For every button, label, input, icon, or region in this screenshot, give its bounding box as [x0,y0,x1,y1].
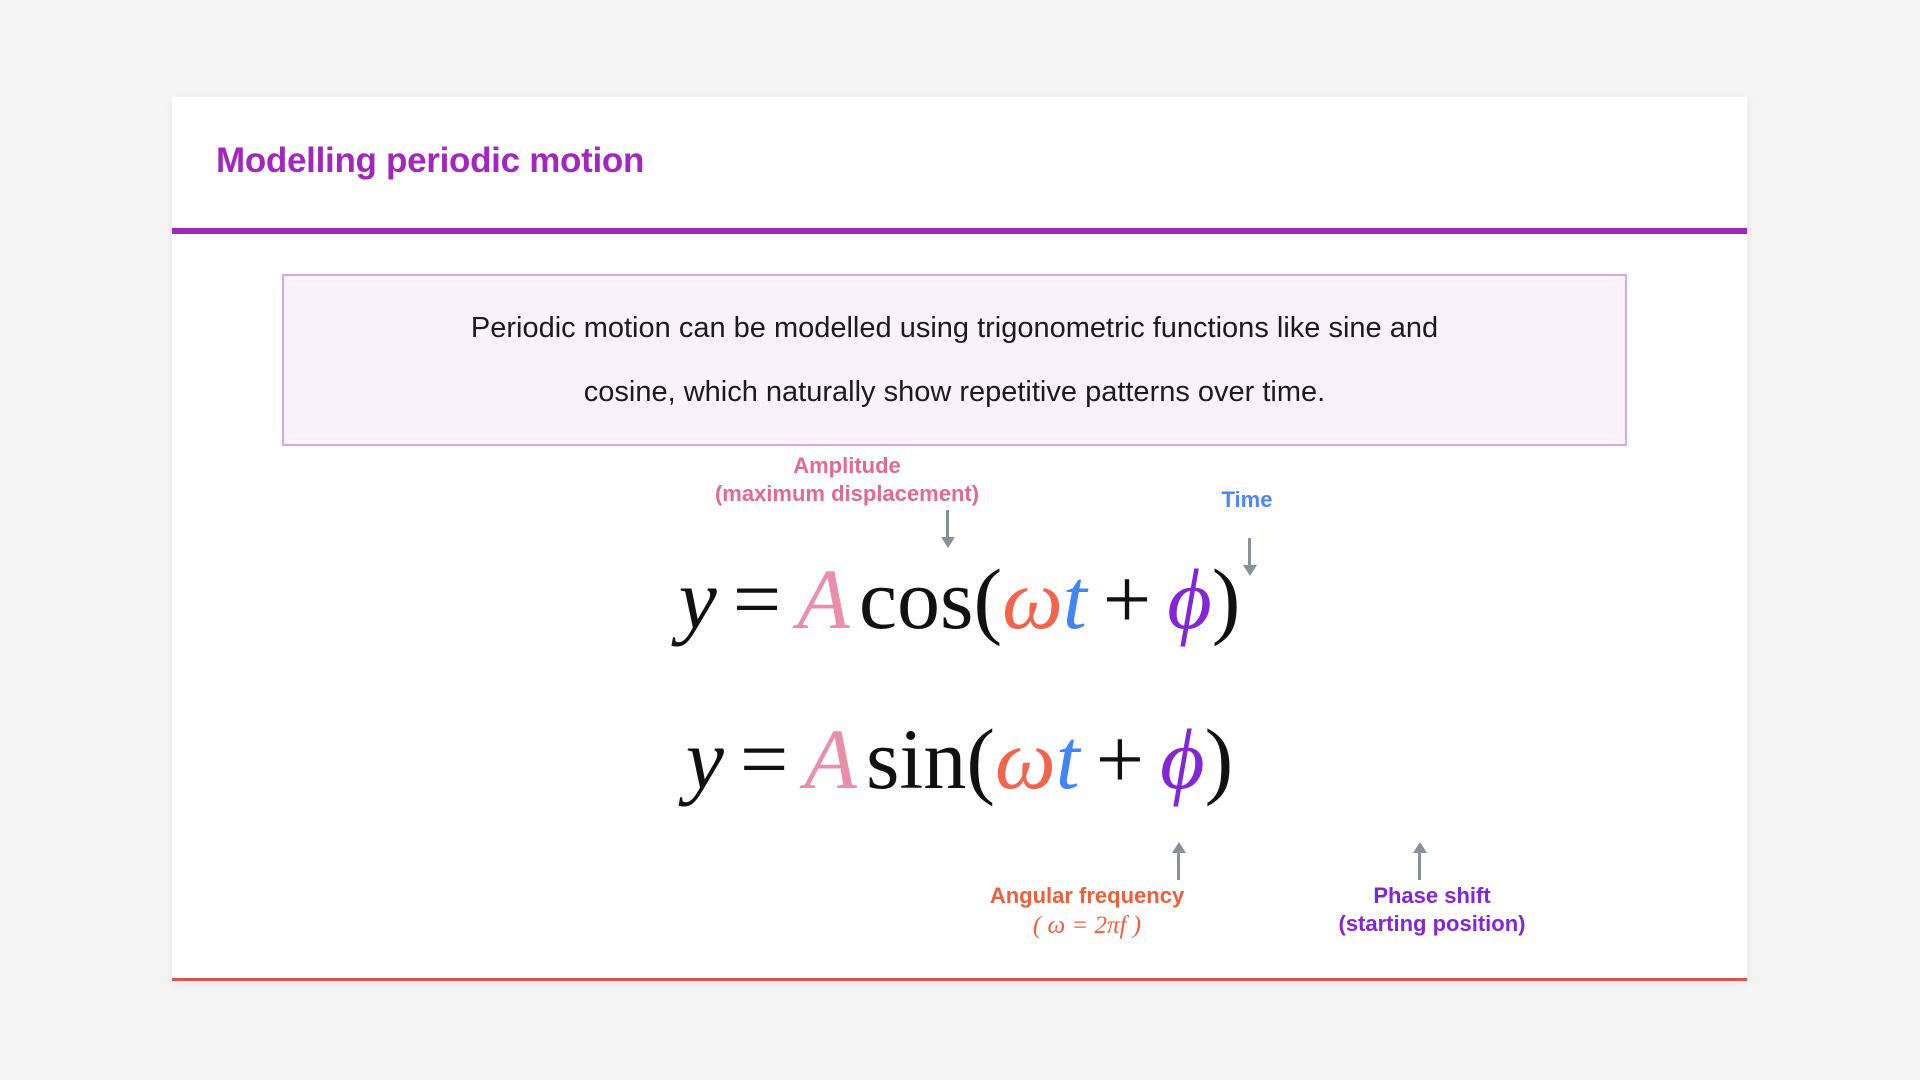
eq-cos-phi: ϕ [1167,551,1212,647]
title-divider [172,228,1747,234]
annotation-angular-frequency-line1: Angular frequency [877,882,1297,910]
eq-sin-amplitude: A [804,711,857,807]
arrow-up-phase-shift-icon [1418,852,1421,880]
eq-sin-open-paren: ( [966,711,995,807]
annotation-amplitude-line1: Amplitude [637,452,1057,480]
eq-sin-close-paren: ) [1205,711,1234,807]
annotation-angular-frequency-line2: ( ω = 2πf ) [877,910,1297,942]
slide-card: Modelling periodic motion Periodic motio… [172,97,1747,981]
arrow-up-angular-frequency-icon [1177,852,1180,880]
annotation-phase-shift-line2: (starting position) [1242,910,1622,938]
eq-sin-time: t [1056,711,1080,807]
annotation-time: Time [1157,486,1337,514]
eq-sin-lhs: y [686,711,724,807]
eq-cos-function: cos [859,551,974,647]
eq-cos-close-paren: ) [1212,551,1241,647]
eq-sin-equals: = [740,711,789,807]
eq-cos-open-paren: ( [973,551,1002,647]
eq-sin-plus: + [1096,711,1145,807]
annotation-time-line1: Time [1157,486,1337,514]
eq-cos-amplitude: A [797,551,850,647]
eq-sin-function: sin [866,711,966,807]
annotation-phase-shift-line1: Phase shift [1242,882,1622,910]
annotation-amplitude-line2: (maximum displacement) [637,480,1057,508]
equation-cosine: y=Acos(ωt+ϕ) [172,556,1747,642]
intro-callout: Periodic motion can be modelled using tr… [282,274,1627,446]
callout-line-1: Periodic motion can be modelled using tr… [471,296,1438,360]
eq-cos-plus: + [1103,551,1152,647]
card-bottom-rule [172,978,1747,981]
annotation-phase-shift: Phase shift (starting position) [1242,882,1622,938]
eq-cos-lhs: y [679,551,717,647]
arrow-down-amplitude-icon [946,510,949,538]
equation-sine: y=Asin(ωt+ϕ) [172,716,1747,802]
equation-area: Amplitude (maximum displacement) Time y=… [172,452,1747,972]
eq-cos-equals: = [733,551,782,647]
eq-sin-omega: ω [995,711,1056,807]
slide-stage: Modelling periodic motion Periodic motio… [0,0,1920,1080]
card-header: Modelling periodic motion [172,97,1747,231]
annotation-amplitude: Amplitude (maximum displacement) [637,452,1057,508]
page-title: Modelling periodic motion [216,141,644,181]
eq-cos-time: t [1063,551,1087,647]
eq-cos-omega: ω [1002,551,1063,647]
annotation-angular-frequency: Angular frequency ( ω = 2πf ) [877,882,1297,942]
callout-line-2: cosine, which naturally show repetitive … [584,360,1325,424]
eq-sin-phi: ϕ [1160,711,1205,807]
